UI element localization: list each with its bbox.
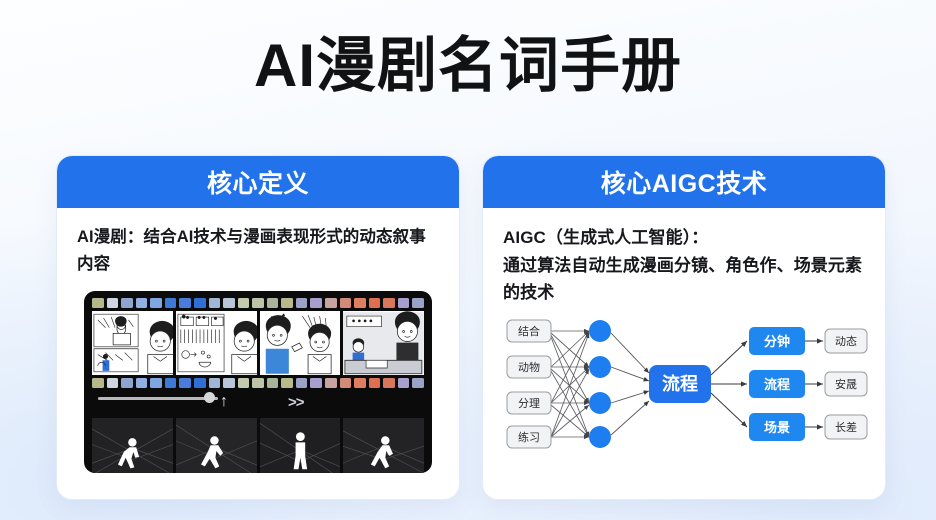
sprocket-hole <box>209 378 221 388</box>
diagram-output-label-0: 分钟 <box>764 334 790 349</box>
sprocket-hole <box>252 298 264 308</box>
sprocket-row-bottom <box>92 378 424 388</box>
hidden-node <box>589 320 611 342</box>
sprocket-hole <box>238 378 250 388</box>
sprocket-hole <box>281 298 293 308</box>
diagram-tail-nodes: 动态 安晟 长差 <box>825 329 867 439</box>
diagram-center-node: 流程 <box>649 365 711 403</box>
sprocket-hole <box>238 298 250 308</box>
sprocket-hole <box>165 378 177 388</box>
diagram-tail-label-0: 动态 <box>835 335 857 348</box>
up-arrow-icon[interactable]: ↑ <box>220 394 228 410</box>
diagram-output-nodes: 分钟 流程 场景 <box>749 327 805 441</box>
keyframe-row <box>92 418 424 473</box>
aigc-text: AIGC（生成式人工智能）： 通过算法自动生成漫画分镜、角色作、场景元素的技术 <box>503 224 865 307</box>
sprocket-hole <box>398 298 410 308</box>
sprocket-hole <box>150 378 162 388</box>
sprocket-hole <box>223 298 235 308</box>
sprocket-hole <box>383 378 395 388</box>
sprocket-hole <box>296 378 308 388</box>
fast-forward-icon[interactable]: >> <box>288 395 304 410</box>
comic-panel-row <box>92 311 424 375</box>
sprocket-hole <box>107 298 119 308</box>
comic-panel <box>343 311 424 375</box>
keyframe <box>92 418 173 473</box>
sprocket-hole <box>179 298 191 308</box>
sprocket-hole <box>383 298 395 308</box>
timeline-slider-knob[interactable] <box>204 392 215 403</box>
definition-text: AI漫剧：结合AI技术与漫画表现形式的动态叙事内容 <box>77 224 439 277</box>
film-strip-illustration: ↑ >> <box>84 291 432 473</box>
sprocket-hole <box>354 298 366 308</box>
sprocket-hole <box>267 378 279 388</box>
sprocket-hole <box>223 378 235 388</box>
sprocket-hole <box>150 298 162 308</box>
diagram-tail-label-1: 安晟 <box>835 377 857 391</box>
card-header-core-aigc-tech: 核心AIGC技术 <box>483 156 885 208</box>
diagram-output-label-2: 场景 <box>764 420 790 435</box>
keyframe <box>176 418 257 473</box>
playback-controls: ↑ >> <box>92 388 424 418</box>
diagram-center-label: 流程 <box>662 373 698 394</box>
comic-panel <box>260 311 341 375</box>
sprocket-hole <box>296 298 308 308</box>
diagram-input-label-2: 分理 <box>518 397 540 410</box>
sprocket-hole <box>310 378 322 388</box>
sprocket-hole <box>281 378 293 388</box>
sprocket-hole <box>325 298 337 308</box>
sprocket-hole <box>267 298 279 308</box>
sprocket-hole <box>340 298 352 308</box>
sprocket-hole <box>412 378 424 388</box>
sprocket-hole <box>136 298 148 308</box>
card-core-aigc-tech: 核心AIGC技术 AIGC（生成式人工智能）： 通过算法自动生成漫画分镜、角色作… <box>482 155 886 500</box>
hidden-node <box>589 426 611 448</box>
sprocket-hole <box>340 378 352 388</box>
sprocket-hole <box>194 298 206 308</box>
sprocket-hole <box>179 378 191 388</box>
sprocket-row-top <box>92 298 424 308</box>
diagram-input-nodes: 结合 动物 分理 练习 <box>507 320 551 448</box>
card-header-label: 核心定义 <box>207 164 309 200</box>
card-body-core-aigc-tech: AIGC（生成式人工智能）： 通过算法自动生成漫画分镜、角色作、场景元素的技术 <box>483 208 885 465</box>
comic-panel <box>92 311 173 375</box>
sprocket-hole <box>369 298 381 308</box>
diagram-input-label-0: 结合 <box>518 324 540 338</box>
sprocket-hole <box>136 378 148 388</box>
card-header-core-definition: 核心定义 <box>57 156 459 208</box>
hidden-node <box>589 392 611 414</box>
neural-flow-diagram: 结合 动物 分理 练习 <box>503 315 871 465</box>
page-title: AI漫剧名词手册 <box>0 32 936 99</box>
sprocket-hole <box>92 378 104 388</box>
sprocket-hole <box>325 378 337 388</box>
sprocket-hole <box>92 298 104 308</box>
sprocket-hole <box>121 378 133 388</box>
sprocket-hole <box>369 378 381 388</box>
card-body-core-definition: AI漫剧：结合AI技术与漫画表现形式的动态叙事内容 <box>57 208 459 473</box>
sprocket-hole <box>354 378 366 388</box>
card-header-label: 核心AIGC技术 <box>601 164 768 200</box>
diagram-input-label-3: 练习 <box>518 430 540 444</box>
sprocket-hole <box>107 378 119 388</box>
card-core-definition: 核心定义 AI漫剧：结合AI技术与漫画表现形式的动态叙事内容 <box>56 155 460 500</box>
sprocket-hole <box>310 298 322 308</box>
keyframe <box>343 418 424 473</box>
diagram-hidden-nodes <box>589 320 611 448</box>
keyframe <box>260 418 341 473</box>
sprocket-hole <box>194 378 206 388</box>
sprocket-hole <box>252 378 264 388</box>
timeline-slider-track[interactable] <box>98 397 218 400</box>
comic-panel <box>176 311 257 375</box>
diagram-input-label-1: 动物 <box>518 360 540 374</box>
hidden-node <box>589 356 611 378</box>
sprocket-hole <box>398 378 410 388</box>
sprocket-hole <box>165 298 177 308</box>
sprocket-hole <box>412 298 424 308</box>
sprocket-hole <box>121 298 133 308</box>
diagram-output-label-1: 流程 <box>764 377 790 392</box>
sprocket-hole <box>209 298 221 308</box>
diagram-tail-label-2: 长差 <box>835 420 857 434</box>
